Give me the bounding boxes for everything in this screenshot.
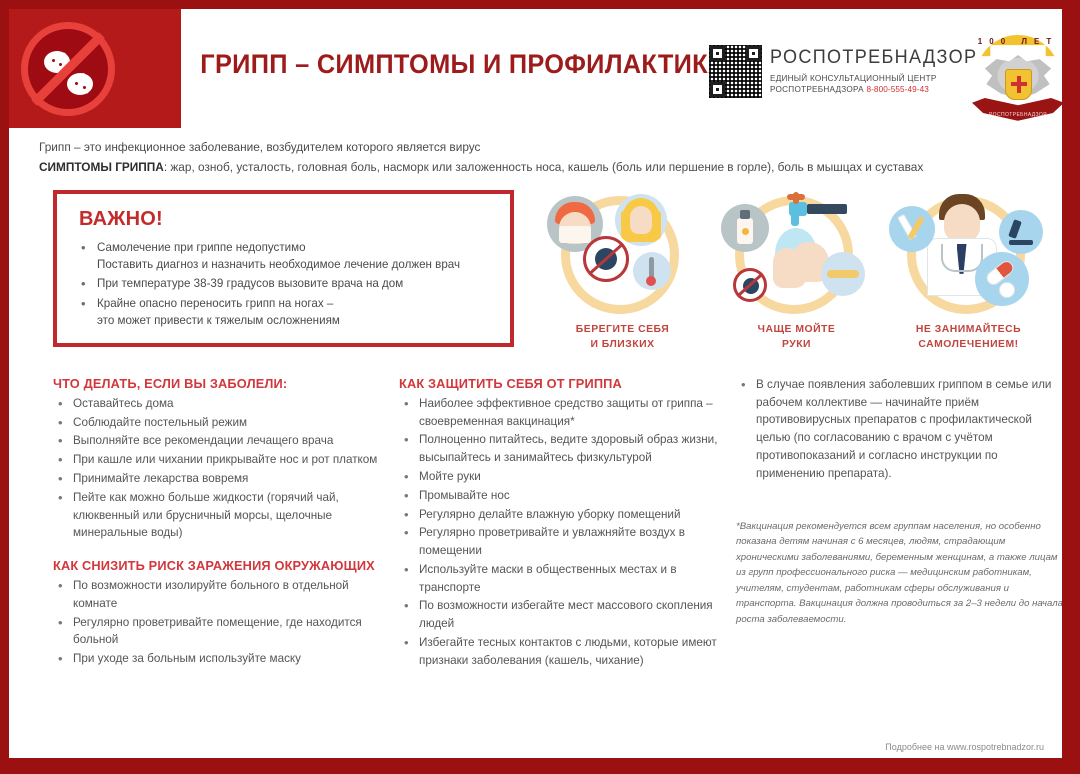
qr-code-icon xyxy=(709,45,762,98)
list-item: Мойте руки xyxy=(399,468,729,486)
list-antiviral-advice: В случае появления заболевших гриппом в … xyxy=(736,376,1062,483)
list-item: Оставайтесь дома xyxy=(53,395,383,413)
intro-block: Грипп – это инфекционное заболевание, во… xyxy=(9,128,1062,178)
no-virus-icon xyxy=(733,268,767,302)
illustration-caption: НЕ ЗАНИМАЙТЕСЬ САМОЛЕЧЕНИЕМ! xyxy=(881,322,1056,353)
list-what-to-do: Оставайтесь дома Соблюдайте постельный р… xyxy=(53,395,383,542)
poster-inner: ГРИПП – СИМПТОМЫ И ПРОФИЛАКТИКА РОСПОТРЕ… xyxy=(9,9,1062,758)
thermometer-icon xyxy=(633,252,671,290)
poster-root: ГРИПП – СИМПТОМЫ И ПРОФИЛАКТИКА РОСПОТРЕ… xyxy=(0,0,1080,774)
brand-subtitle: ЕДИНЫЙ КОНСУЛЬТАЦИОННЫЙ ЦЕНТР РОСПОТРЕБН… xyxy=(770,73,988,95)
page-title: ГРИПП – СИМПТОМЫ И ПРОФИЛАКТИКА xyxy=(200,49,679,80)
section-title-what-to-do: ЧТО ДЕЛАТЬ, ЕСЛИ ВЫ ЗАБОЛЕЛИ: xyxy=(53,376,383,391)
woman-icon xyxy=(615,194,667,246)
section-title-reduce-risk: КАК СНИЗИТЬ РИСК ЗАРАЖЕНИЯ ОКРУЖАЮЩИХ xyxy=(53,558,383,573)
rospotrebnadzor-emblem-icon: 100 ЛЕТ РОСПОТРЕБНАДЗОР xyxy=(972,31,1062,127)
brand-sub-line1: ЕДИНЫЙ КОНСУЛЬТАЦИОННЫЙ ЦЕНТР xyxy=(770,73,988,84)
list-item: Полноценно питайтесь, ведите здоровый об… xyxy=(399,431,729,467)
important-title: ВАЖНО! xyxy=(79,208,494,231)
list-item: Избегайте тесных контактов с людьми, кот… xyxy=(399,634,729,670)
poster-header: ГРИПП – СИМПТОМЫ И ПРОФИЛАКТИКА РОСПОТРЕ… xyxy=(9,9,1062,128)
list-item: В случае появления заболевших гриппом в … xyxy=(736,376,1062,483)
prohibition-slash xyxy=(31,32,105,106)
list-item: По возможности избегайте мест массового … xyxy=(399,597,729,633)
rospotrebnadzor-brand: РОСПОТРЕБНАДЗОР ЕДИНЫЙ КОНСУЛЬТАЦИОННЫЙ … xyxy=(709,45,988,98)
important-list: Самолечение при гриппе недопустимо Поста… xyxy=(79,240,494,330)
illustration-art xyxy=(717,190,877,316)
germ-shape xyxy=(67,73,93,95)
symptoms-text: : жар, озноб, усталость, головная боль, … xyxy=(164,160,923,174)
vaccination-footnote: *Вакцинация рекомендуется всем группам н… xyxy=(736,519,1062,628)
intro-line-1: Грипп – это инфекционное заболевание, во… xyxy=(39,138,1010,156)
symptoms-label: СИМПТОМЫ ГРИППА xyxy=(39,160,164,174)
column-antiviral-advice: В случае появления заболевших гриппом в … xyxy=(736,376,1062,627)
list-item: По возможности изолируйте больного в отд… xyxy=(53,577,383,613)
column-what-to-do: ЧТО ДЕЛАТЬ, ЕСЛИ ВЫ ЗАБОЛЕЛИ: Оставайтес… xyxy=(53,376,383,669)
pills-icon xyxy=(975,252,1029,306)
soap-bottle-icon xyxy=(721,204,769,252)
list-item: Используйте маски в общественных местах … xyxy=(399,561,729,597)
list-item: При кашле или чихании прикрывайте нос и … xyxy=(53,451,383,469)
brand-sub-line2: РОСПОТРЕБНАДЗОРА xyxy=(770,85,864,94)
list-item: Регулярно проветривайте помещение, где н… xyxy=(53,614,383,650)
illustration-art xyxy=(543,190,703,316)
syringe-icon xyxy=(889,206,935,252)
list-how-to-protect: Наиболее эффективное средство защиты от … xyxy=(399,395,729,670)
list-reduce-risk: По возможности изолируйте больного в отд… xyxy=(53,577,383,668)
illustration-wash-hands: ЧАЩЕ МОЙТЕ РУКИ xyxy=(709,190,884,370)
list-item: Регулярно делайте влажную уборку помещен… xyxy=(399,506,729,524)
list-item: Соблюдайте постельный режим xyxy=(53,414,383,432)
illustration-caption: БЕРЕГИТЕ СЕБЯ И БЛИЗКИХ xyxy=(535,322,710,353)
list-item: Пейте как можно больше жидкости (горячий… xyxy=(53,489,383,542)
list-item: Промывайте нос xyxy=(399,487,729,505)
list-item: Наиболее эффективное средство защиты от … xyxy=(399,395,729,431)
illustration-art xyxy=(889,190,1049,316)
no-virus-icon xyxy=(21,22,115,116)
column-how-to-protect: КАК ЗАЩИТИТЬ СЕБЯ ОТ ГРИППА Наиболее эфф… xyxy=(399,376,729,671)
emblem-top-text: 100 ЛЕТ xyxy=(972,37,1062,46)
important-item: Самолечение при гриппе недопустимо Поста… xyxy=(79,240,494,274)
list-item: Принимайте лекарства вовремя xyxy=(53,470,383,488)
illustration-protect-yourself: БЕРЕГИТЕ СЕБЯ И БЛИЗКИХ xyxy=(535,190,710,370)
brand-text: РОСПОТРЕБНАДЗОР ЕДИНЫЙ КОНСУЛЬТАЦИОННЫЙ … xyxy=(770,45,988,95)
list-item: Выполняйте все рекомендации лечащего вра… xyxy=(53,432,383,450)
footer-website: Подробнее на www.rospotrebnadzor.ru xyxy=(885,742,1044,752)
emblem-bottom-text: РОСПОТРЕБНАДЗОР xyxy=(972,112,1062,118)
towel-icon xyxy=(821,252,865,296)
illustration-no-self-medication: НЕ ЗАНИМАЙТЕСЬ САМОЛЕЧЕНИЕМ! xyxy=(881,190,1056,370)
microscope-icon xyxy=(999,210,1043,254)
hotline-phone: 8-800-555-49-43 xyxy=(866,85,929,94)
intro-line-2: СИМПТОМЫ ГРИППА: жар, озноб, усталость, … xyxy=(39,158,1010,178)
illustrations-row: БЕРЕГИТЕ СЕБЯ И БЛИЗКИХ xyxy=(529,190,1062,370)
mid-section: ВАЖНО! Самолечение при гриппе недопустим… xyxy=(9,190,1062,370)
important-item: При температуре 38-39 градусов вызовите … xyxy=(79,276,494,293)
important-box: ВАЖНО! Самолечение при гриппе недопустим… xyxy=(53,190,514,347)
important-item: Крайне опасно переносить грипп на ногах … xyxy=(79,296,494,330)
illustration-caption: ЧАЩЕ МОЙТЕ РУКИ xyxy=(709,322,884,353)
no-virus-icon xyxy=(583,236,629,282)
content-columns: ЧТО ДЕЛАТЬ, ЕСЛИ ВЫ ЗАБОЛЕЛИ: Оставайтес… xyxy=(9,376,1062,736)
emblem-shield-icon xyxy=(1005,69,1032,100)
section-title-how-to-protect: КАК ЗАЩИТИТЬ СЕБЯ ОТ ГРИППА xyxy=(399,376,729,391)
list-item: При уходе за больным используйте маску xyxy=(53,650,383,668)
brand-name: РОСПОТРЕБНАДЗОР xyxy=(770,47,977,69)
list-item: Регулярно проветривайте и увлажняйте воз… xyxy=(399,524,729,560)
